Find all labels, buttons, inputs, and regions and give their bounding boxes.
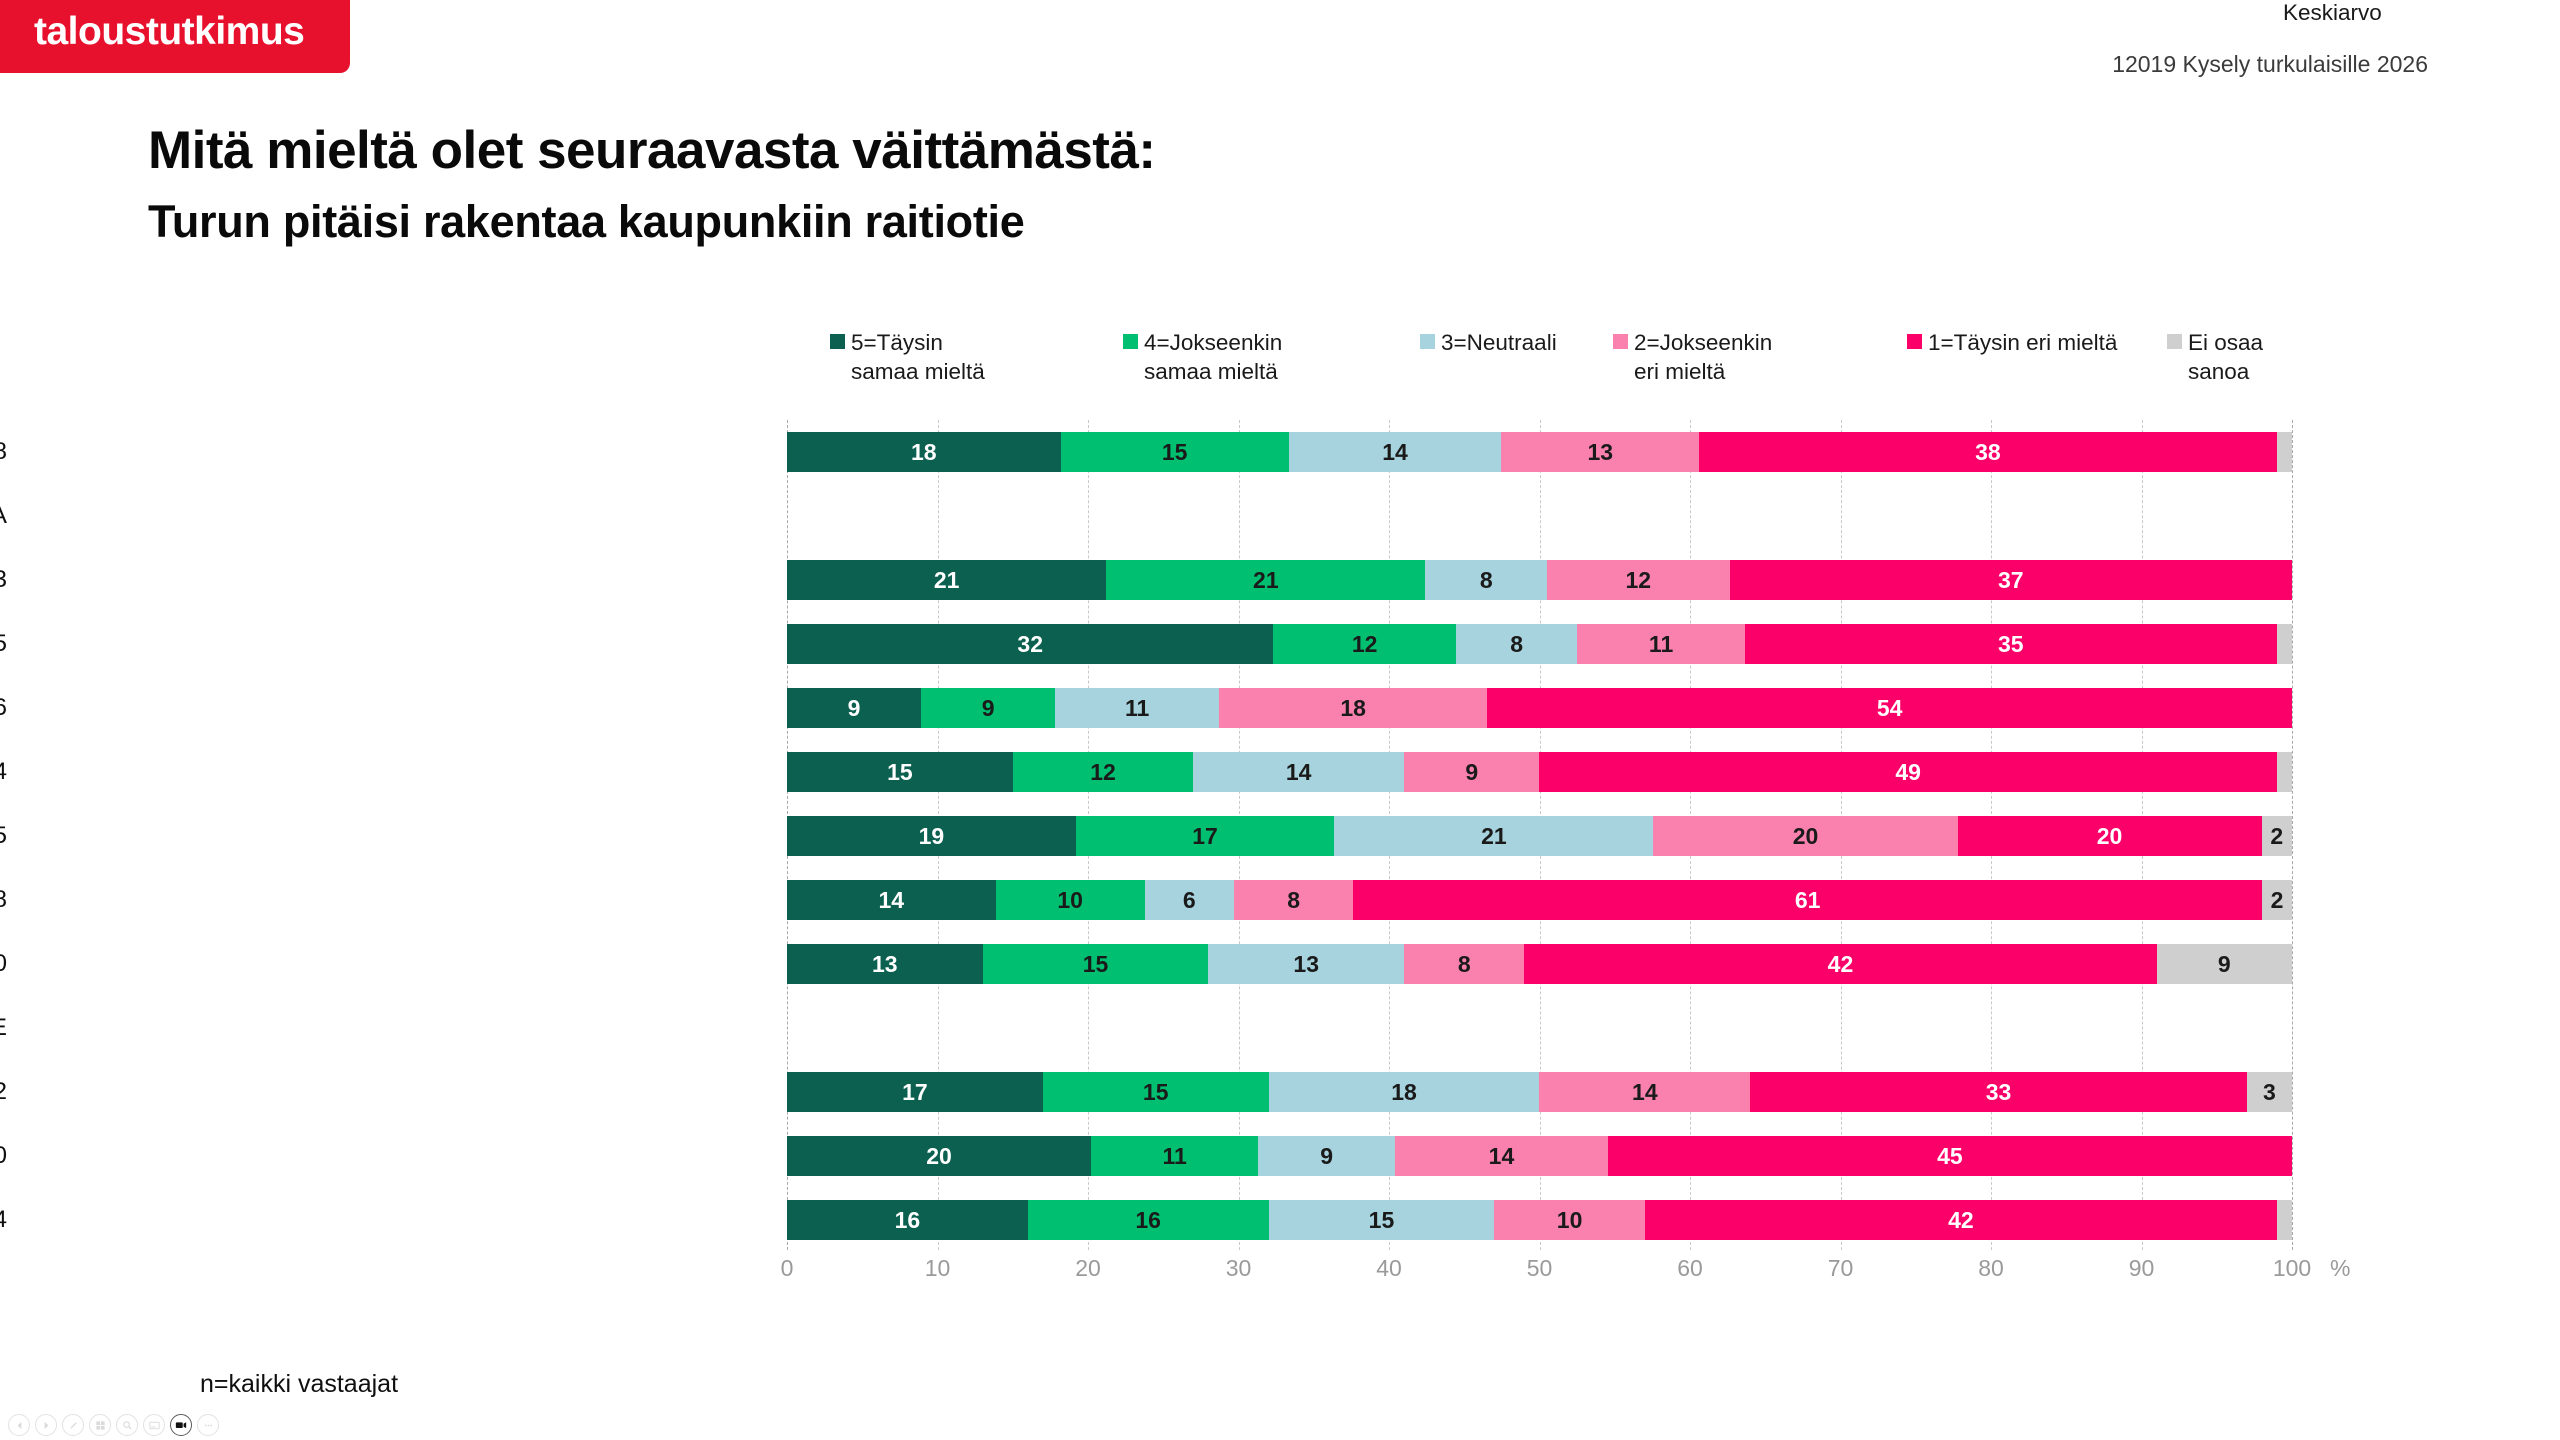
bar-value-label: 12 [1625, 567, 1651, 594]
bar-segment: 14 [1539, 1072, 1750, 1112]
bar-segment: 9 [1404, 752, 1539, 792]
stacked-bar: 1616151042 [787, 1200, 2292, 1240]
bar-segment: 42 [1645, 1200, 2277, 1240]
bar-segment: 38 [1699, 432, 2277, 472]
row-category-label: Eläkeläinen, n=128 [0, 868, 7, 932]
bar-segment: 10 [1494, 1200, 1645, 1240]
bar-segment: 10 [996, 880, 1145, 920]
bar-value-label: 17 [1192, 823, 1218, 850]
bar-segment: 15 [1043, 1072, 1269, 1112]
bar-segment [2277, 752, 2292, 792]
legend-swatch-icon [830, 334, 845, 349]
bar-value-label: 21 [1481, 823, 1507, 850]
bar-segment: 18 [1269, 1072, 1540, 1112]
stacked-bar: 141068612 [787, 880, 2292, 920]
all-slides-icon[interactable] [89, 1414, 111, 1436]
bar-value-label: 15 [1369, 1207, 1395, 1234]
row-category-label: Kaikki vastaajat, n=688 [0, 420, 7, 484]
chart-row: Toimihenkilö, n=76991118542,00 [787, 676, 2292, 740]
bar-value-label: 17 [902, 1079, 928, 1106]
row-category-label: Opiskelija/koululainen, n=155 [0, 804, 7, 868]
bar-segment: 61 [1353, 880, 2262, 920]
bar-value-label: 19 [919, 823, 945, 850]
bar-value-label: 2 [2270, 823, 2283, 850]
legend-label-line2: sanoa [2167, 357, 2263, 386]
bar-value-label: 9 [1465, 759, 1478, 786]
bar-value-label: 15 [1083, 951, 1109, 978]
bar-value-label: 49 [1895, 759, 1921, 786]
bar-segment: 13 [1501, 432, 1699, 472]
bar-segment: 8 [1425, 560, 1547, 600]
bar-value-label: 12 [1090, 759, 1116, 786]
bar-segment: 45 [1608, 1136, 2292, 1176]
chart-row: Yhden hengen talous, n=252171518143332,6… [787, 1060, 2292, 1124]
legend-label: 3=Neutraali [1441, 330, 1557, 355]
x-axis-tick-label: 40 [1376, 1255, 1402, 1282]
bar-segment: 9 [1258, 1136, 1395, 1176]
x-axis-tick-label: 20 [1075, 1255, 1101, 1282]
bar-value-label: 14 [879, 887, 905, 914]
bar-segment [2277, 1200, 2292, 1240]
bar-segment: 14 [1193, 752, 1404, 792]
brand-name: taloustutkimus [34, 10, 304, 54]
bar-segment: 16 [1028, 1200, 1269, 1240]
bar-value-label: 35 [1998, 631, 2024, 658]
bar-value-label: 42 [1828, 951, 1854, 978]
bar-value-label: 13 [1293, 951, 1319, 978]
chart-row: Opiskelija/koululainen, n=15519172120202… [787, 804, 2292, 868]
bar-segment: 35 [1745, 624, 2277, 664]
x-axis-tick-label: 10 [925, 1255, 951, 1282]
bar-value-label: 33 [1986, 1079, 2012, 1106]
bar-segment: 18 [1219, 688, 1487, 728]
bar-segment: 15 [983, 944, 1209, 984]
group-label: AMMATTI/ASEMA [0, 484, 7, 548]
bar-segment: 20 [1653, 816, 1957, 856]
brand-logo: taloustutkimus [0, 0, 350, 73]
legend-label: 2=Jokseenkin [1634, 330, 1772, 355]
bar-segment: 20 [1958, 816, 2262, 856]
bar-segment [2277, 432, 2292, 472]
bar-segment: 13 [1208, 944, 1404, 984]
bar-segment: 9 [921, 688, 1055, 728]
bar-value-label: 9 [848, 695, 861, 722]
x-axis-tick-label: 90 [2129, 1255, 2155, 1282]
bar-value-label: 2 [2271, 887, 2284, 914]
bar-value-label: 11 [1162, 1143, 1186, 1170]
bar-segment: 12 [1547, 560, 1729, 600]
chart-legend: 5=Täysinsamaa mieltä4=Jokseenkinsamaa mi… [0, 328, 2560, 408]
bar-value-label: 6 [1183, 887, 1196, 914]
legend-label: 1=Täysin eri mieltä [1928, 330, 2117, 355]
bar-segment: 21 [787, 560, 1106, 600]
bar-value-label: 14 [1286, 759, 1312, 786]
bar-value-label: 20 [2097, 823, 2123, 850]
bar-value-label: 8 [1287, 887, 1300, 914]
x-axis-tick-label: 100 [2273, 1255, 2311, 1282]
legend-label-line2: samaa mieltä [830, 357, 985, 386]
x-axis-tick-label: 0 [781, 1255, 794, 1282]
bar-value-label: 8 [1480, 567, 1493, 594]
chart-row: Muu aikuistalous, n=3202011914452,47 [787, 1124, 2292, 1188]
bar-value-label: 21 [1253, 567, 1279, 594]
bar-segment: 21 [1106, 560, 1425, 600]
legend-swatch-icon [1907, 334, 1922, 349]
bar-segment: 49 [1539, 752, 2276, 792]
bar-segment: 15 [1061, 432, 1289, 472]
legend-item-5: Ei osaasanoa [2167, 328, 2263, 386]
bar-value-label: 12 [1352, 631, 1378, 658]
bar-value-label: 42 [1948, 1207, 1974, 1234]
x-axis-unit: % [2330, 1255, 2350, 1282]
legend-label: 4=Jokseenkin [1144, 330, 1282, 355]
bar-segment: 2 [2262, 880, 2292, 920]
x-axis-tick-label: 60 [1677, 1255, 1703, 1282]
chart-row: Työntekijä/maanviljelijä, n=134115121494… [787, 740, 2292, 804]
legend-swatch-icon [2167, 334, 2182, 349]
next-slide-icon[interactable] [35, 1414, 57, 1436]
group-label: TALOUDEN ELINVAIHE [0, 996, 7, 1060]
stacked-bar: 19172120202 [787, 816, 2292, 856]
legend-swatch-icon [1613, 334, 1628, 349]
presentation-toolbar[interactable] [8, 1414, 219, 1436]
row-category-label: Muu ylempi toimihenkilö/asiantuntija, n=… [0, 612, 7, 676]
x-axis-tick-label: 30 [1226, 1255, 1252, 1282]
legend-label-line2: eri mieltä [1613, 357, 1772, 386]
bar-value-label: 10 [1057, 887, 1083, 914]
bar-value-label: 32 [1017, 631, 1043, 658]
stacked-bar: 1815141338 [787, 432, 2292, 472]
chart-row: Muu, n=4013151384292,44 [787, 932, 2292, 996]
bar-value-label: 45 [1937, 1143, 1963, 1170]
bar-value-label: 37 [1998, 567, 2024, 594]
legend-item-2: 3=Neutraali [1420, 328, 1557, 357]
bar-segment: 12 [1013, 752, 1194, 792]
bar-value-label: 9 [1320, 1143, 1333, 1170]
stacked-bar: 1315138429 [787, 944, 2292, 984]
chart-row: Lapsitalous, n=104116161510422,55 [787, 1188, 2292, 1252]
bar-segment: 11 [1091, 1136, 1258, 1176]
stacked-bar: 201191445 [787, 1136, 2292, 1176]
bar-segment: 13 [787, 944, 983, 984]
chart-row: Muu ylempi toimihenkilö/asiantuntija, n=… [787, 612, 2292, 676]
average-column-header: Keskiarvo [2283, 0, 2382, 26]
bar-segment: 14 [1395, 1136, 1608, 1176]
bar-value-label: 21 [934, 567, 960, 594]
bar-segment: 54 [1487, 688, 2292, 728]
bar-value-label: 3 [2263, 1079, 2276, 1106]
bar-segment: 19 [787, 816, 1076, 856]
row-category-label: Yhden hengen talous, n=252 [0, 1060, 7, 1124]
previous-slide-icon[interactable] [8, 1414, 30, 1436]
group-header-row: TALOUDEN ELINVAIHE [787, 996, 2292, 1060]
bar-segment: 20 [787, 1136, 1091, 1176]
legend-label-line2: samaa mieltä [1123, 357, 1282, 386]
x-axis-tick-label: 50 [1527, 1255, 1553, 1282]
bar-segment: 42 [1524, 944, 2156, 984]
stacked-bar: 212181237 [787, 560, 2292, 600]
legend-item-0: 5=Täysinsamaa mieltä [830, 328, 985, 386]
bar-value-label: 20 [926, 1143, 952, 1170]
zoom-icon[interactable] [116, 1414, 138, 1436]
bar-value-label: 16 [1135, 1207, 1161, 1234]
bar-segment: 18 [787, 432, 1061, 472]
bar-value-label: 61 [1795, 887, 1821, 914]
x-axis-tick-label: 70 [1828, 1255, 1854, 1282]
bar-value-label: 14 [1489, 1143, 1515, 1170]
bar-segment: 33 [1750, 1072, 2247, 1112]
legend-item-1: 4=Jokseenkinsamaa mieltä [1123, 328, 1282, 386]
bar-segment: 6 [1145, 880, 1234, 920]
stacked-bar: 99111854 [787, 688, 2292, 728]
bar-value-label: 15 [887, 759, 913, 786]
stacked-bar: 17151814333 [787, 1072, 2292, 1112]
bar-value-label: 9 [2218, 951, 2231, 978]
bar-value-label: 10 [1557, 1207, 1583, 1234]
bar-value-label: 14 [1632, 1079, 1658, 1106]
row-category-label: Yrittäjä/johtava asema, n=43 [0, 548, 7, 612]
bar-segment: 8 [1234, 880, 1353, 920]
bar-value-label: 15 [1162, 439, 1188, 466]
bar-segment: 15 [1269, 1200, 1495, 1240]
bar-value-label: 18 [1391, 1079, 1417, 1106]
group-header-row: AMMATTI/ASEMA [787, 484, 2292, 548]
deck-identifier: 12019 Kysely turkulaisille 2026 [2112, 51, 2428, 78]
row-category-label: Lapsitalous, n=104 [0, 1188, 7, 1252]
row-category-label: Muu, n=40 [0, 932, 7, 996]
bar-segment: 8 [1456, 624, 1578, 664]
more-options-icon[interactable] [197, 1414, 219, 1436]
x-axis-tick-label: 80 [1978, 1255, 2004, 1282]
legend-label: Ei osaa [2188, 330, 2263, 355]
bar-value-label: 14 [1382, 439, 1408, 466]
row-category-label: Työntekijä/maanviljelijä, n=134 [0, 740, 7, 804]
stacked-bar: 151214949 [787, 752, 2292, 792]
gridline [2292, 420, 2293, 1250]
legend-label: 5=Täysin [851, 330, 943, 355]
stacked-bar: 321281135 [787, 624, 2292, 664]
bar-value-label: 16 [895, 1207, 921, 1234]
bar-segment: 16 [787, 1200, 1028, 1240]
chart-row: Eläkeläinen, n=1281410686122,06 [787, 868, 2292, 932]
pen-icon[interactable] [62, 1414, 84, 1436]
bar-segment: 11 [1055, 688, 1219, 728]
bar-segment: 2 [2262, 816, 2292, 856]
bar-segment: 11 [1577, 624, 1744, 664]
bar-segment: 9 [2157, 944, 2292, 984]
bar-segment: 15 [787, 752, 1013, 792]
legend-swatch-icon [1123, 334, 1138, 349]
bar-segment: 21 [1334, 816, 1653, 856]
x-axis: 0102030405060708090100 [787, 1255, 2292, 1295]
presenter-view-icon[interactable] [143, 1414, 165, 1436]
bar-segment: 8 [1404, 944, 1524, 984]
chart-row: Yrittäjä/johtava asema, n=432121812372,7… [787, 548, 2292, 612]
chart-row: Kaikki vastaajat, n=688118151413382,60 [787, 420, 2292, 484]
bar-segment: 32 [787, 624, 1273, 664]
page-title: Mitä mieltä olet seuraavasta väittämästä… [148, 120, 1156, 181]
bar-segment: 9 [787, 688, 921, 728]
bar-value-label: 13 [1587, 439, 1613, 466]
bar-value-label: 20 [1793, 823, 1819, 850]
legend-item-4: 1=Täysin eri mieltä [1907, 328, 2117, 357]
bar-value-label: 54 [1877, 695, 1903, 722]
bar-value-label: 13 [872, 951, 898, 978]
record-icon[interactable] [170, 1414, 192, 1436]
bar-segment: 12 [1273, 624, 1455, 664]
bar-value-label: 38 [1975, 439, 2001, 466]
bar-segment: 3 [2247, 1072, 2292, 1112]
bar-value-label: 8 [1510, 631, 1523, 658]
bar-value-label: 11 [1649, 631, 1673, 658]
bar-segment [2277, 624, 2292, 664]
row-category-label: Muu aikuistalous, n=320 [0, 1124, 7, 1188]
bar-segment: 14 [787, 880, 996, 920]
legend-swatch-icon [1420, 334, 1435, 349]
footnote: n=kaikki vastaajat [200, 1370, 398, 1399]
bar-value-label: 18 [911, 439, 937, 466]
bar-segment: 17 [1076, 816, 1334, 856]
bar-segment: 17 [787, 1072, 1043, 1112]
bar-segment: 14 [1289, 432, 1502, 472]
chart-plot-area: Kaikki vastaajat, n=688118151413382,60AM… [787, 420, 2292, 1250]
legend-item-3: 2=Jokseenkineri mieltä [1613, 328, 1772, 386]
bar-value-label: 9 [982, 695, 995, 722]
bar-value-label: 8 [1458, 951, 1471, 978]
bar-value-label: 18 [1340, 695, 1366, 722]
bar-value-label: 15 [1143, 1079, 1169, 1106]
bar-value-label: 11 [1125, 695, 1149, 722]
page-subtitle: Turun pitäisi rakentaa kaupunkiin raitio… [148, 196, 1024, 248]
bar-segment: 37 [1730, 560, 2292, 600]
row-category-label: Toimihenkilö, n=76 [0, 676, 7, 740]
